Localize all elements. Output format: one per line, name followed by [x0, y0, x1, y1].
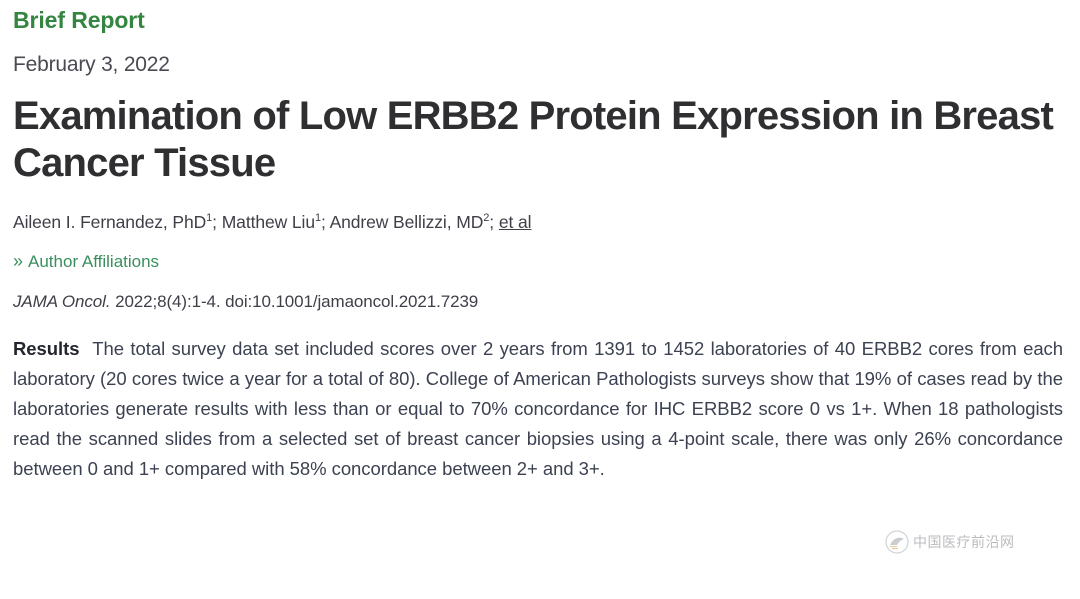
article-content: Brief Report February 3, 2022 Examinatio…: [13, 0, 1065, 484]
author-affiliations-toggle[interactable]: » Author Affiliations: [13, 252, 159, 270]
citation-details: 2022;8(4):1-4. doi:10.1001/jamaoncol.202…: [110, 292, 478, 311]
article-page: Brief Report February 3, 2022 Examinatio…: [0, 0, 1080, 599]
abstract-results-text: The total survey data set included score…: [13, 338, 1063, 479]
author-name-2: Matthew Liu: [222, 212, 315, 232]
site-watermark: 中国医疗前沿网: [884, 524, 1064, 560]
author-name-1: Aileen I. Fernandez, PhD: [13, 212, 206, 232]
article-type-label: Brief Report: [13, 0, 1065, 32]
author-separator-2: ;: [321, 212, 330, 232]
watermark-text: 中国医疗前沿网: [913, 532, 1015, 552]
author-affiliations-label: Author Affiliations: [28, 253, 159, 270]
et-al-link[interactable]: et al: [499, 212, 532, 232]
page-title: Examination of Low ERBB2 Protein Express…: [13, 93, 1065, 187]
author-list: Aileen I. Fernandez, PhD1; Matthew Liu1;…: [13, 214, 1065, 232]
double-chevron-right-icon: »: [13, 252, 23, 270]
author-separator-3: ;: [489, 212, 499, 232]
citation-line: JAMA Oncol. 2022;8(4):1-4. doi:10.1001/j…: [13, 293, 1065, 310]
abstract-section-label: Results: [13, 338, 79, 359]
author-separator-1: ;: [212, 212, 222, 232]
author-name-3: Andrew Bellizzi, MD: [330, 212, 484, 232]
abstract-results-section: Results The total survey data set includ…: [13, 334, 1063, 484]
publication-date: February 3, 2022: [13, 54, 1065, 75]
bird-logo-icon: [884, 529, 910, 555]
journal-name: JAMA Oncol.: [13, 292, 110, 311]
